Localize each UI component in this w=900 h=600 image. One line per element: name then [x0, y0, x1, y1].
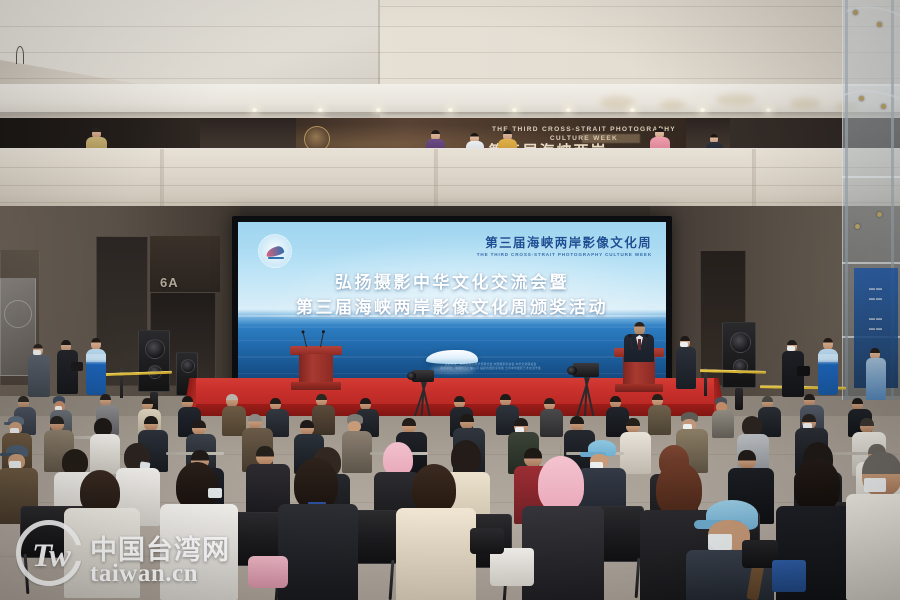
cross-strait-emblem-icon [258, 234, 292, 268]
ceiling-downlight [512, 108, 517, 112]
loudspeaker-stand-right [735, 388, 743, 410]
ceiling-downlight [700, 108, 705, 112]
camera-bag [470, 528, 504, 554]
screen-title-line1: 弘扬摄影中华文化交流会暨 [238, 270, 666, 295]
floor-level-sign: 6A [160, 275, 179, 290]
ceiling-downlight [318, 108, 323, 112]
screen-title-block: 弘扬摄影中华文化交流会暨 第三届海峡两岸影像文化周颁奖活动 [238, 270, 666, 320]
glass-fitting-icon [877, 212, 882, 217]
ceiling-downlight [766, 108, 771, 112]
glass-fitting-icon [853, 10, 858, 15]
handbag [248, 556, 288, 588]
ceiling-downlight [566, 108, 571, 112]
blue-banner-text: ▬▬▬▬▬▬▬▬ [860, 284, 892, 334]
loudspeaker-stack-left [138, 330, 170, 392]
banner-secondary-mark [582, 134, 640, 143]
screen-title-line2: 第三届海峡两岸影像文化周颁奖活动 [238, 295, 666, 320]
iceberg-graphic [426, 350, 478, 364]
loudspeaker-stack-right [722, 322, 756, 388]
event-photo: THE THIRD CROSS-STRAIT PHOTOGRAPHY CULTU… [0, 0, 900, 600]
glass-fitting-icon [855, 224, 860, 229]
ceiling-downlight [448, 108, 453, 112]
event-logo-english: THE THIRD CROSS-STRAIT PHOTOGRAPHY CULTU… [477, 252, 652, 257]
event-logo-lockup: 第三届海峡两岸影像文化周 THE THIRD CROSS-STRAIT PHOT… [477, 236, 652, 257]
event-logo-chinese: 第三届海峡两岸影像文化周 [477, 236, 652, 250]
shopping-bag [772, 560, 806, 592]
ceiling-downlight [376, 108, 381, 112]
glass-fitting-icon [859, 96, 864, 101]
ceiling-downlight [630, 108, 635, 112]
balcony-parapet [0, 148, 900, 210]
glass-fitting-icon [881, 104, 886, 109]
glass-fitting-icon [877, 22, 882, 27]
empty-podium [290, 346, 342, 392]
ceiling-downlight [252, 108, 257, 112]
